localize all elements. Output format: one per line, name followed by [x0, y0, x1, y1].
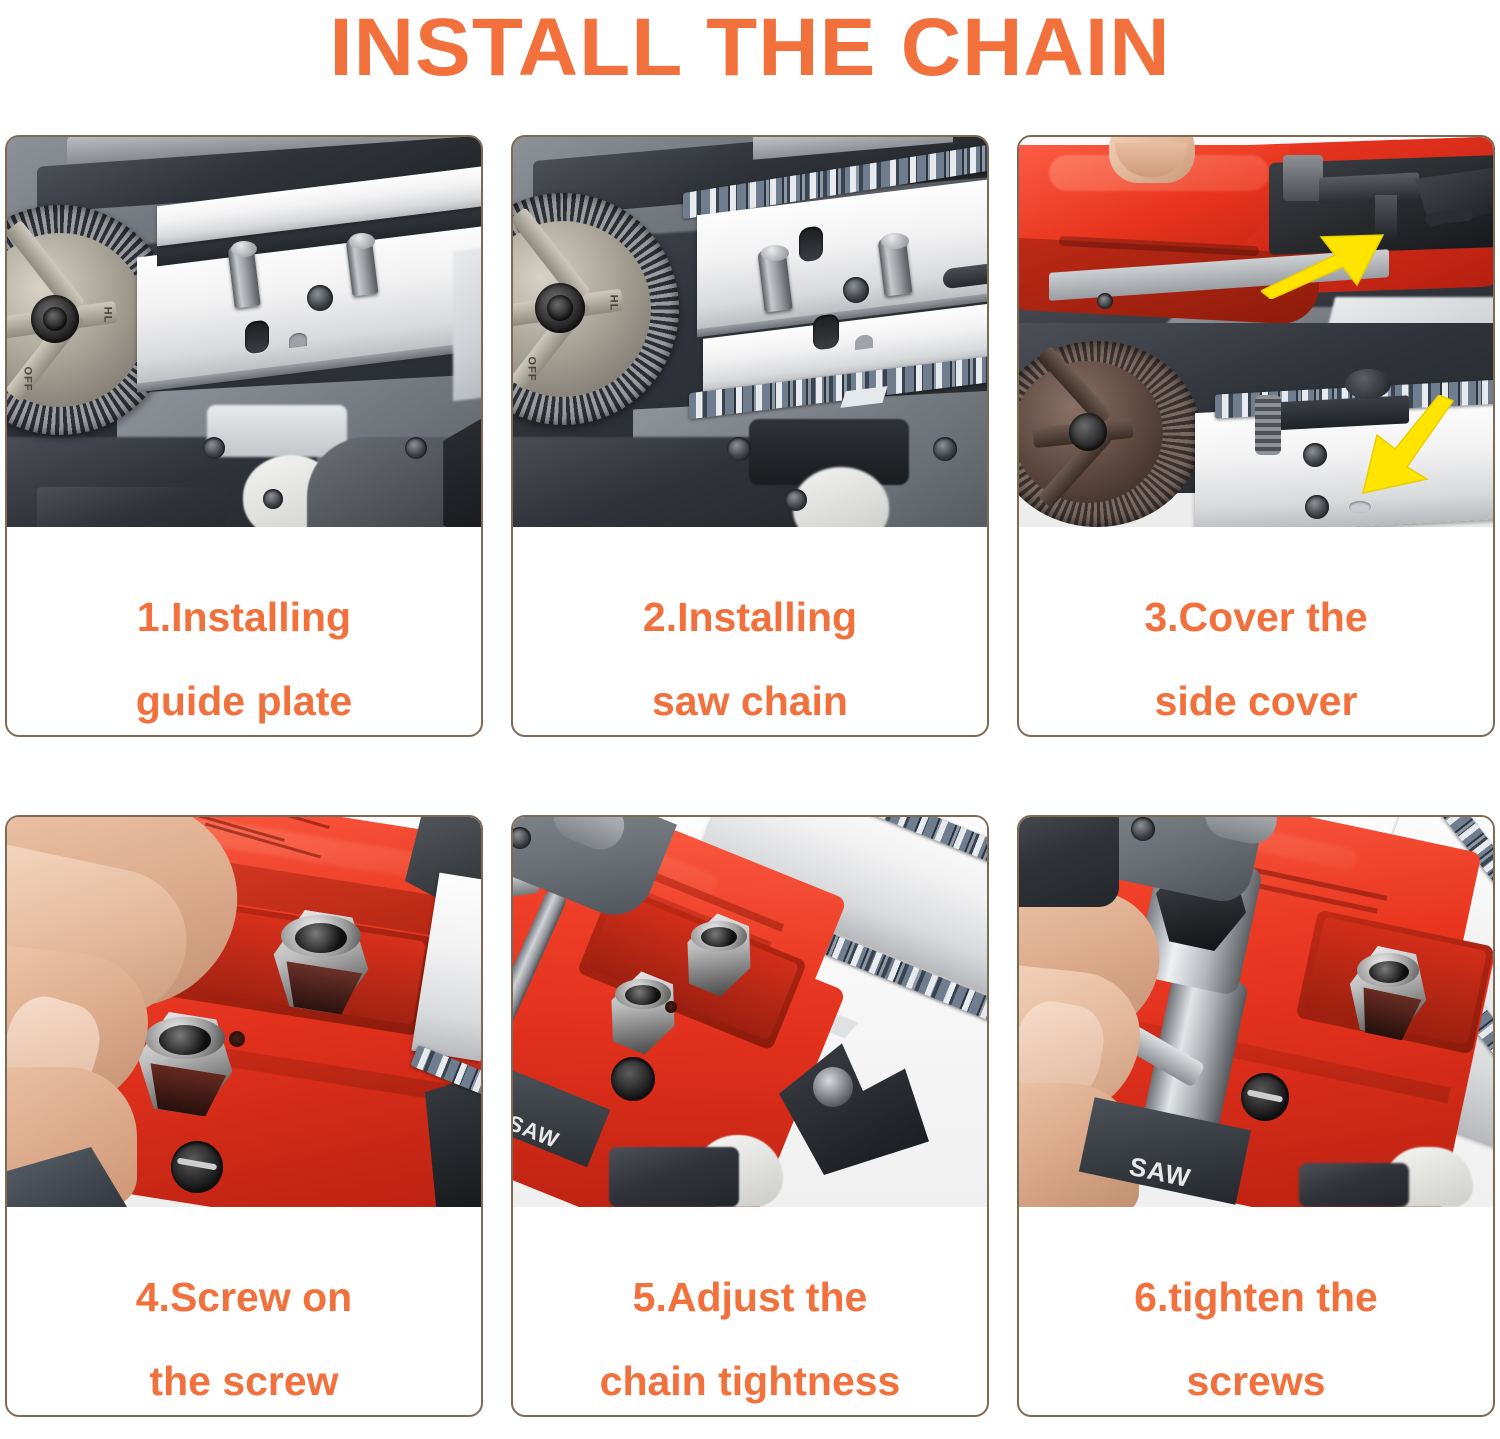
step-photo-6: SAW [1019, 817, 1493, 1207]
step-card-4: 4.Screw on the screw [5, 815, 483, 1417]
step-card-1: HL OFF 1.Inst [5, 135, 483, 737]
step-caption-4: 4.Screw on the screw [7, 1215, 481, 1415]
arrow-icon-lower [1345, 395, 1455, 497]
caption-line-2: side cover [1155, 659, 1358, 737]
arrow-icon-upper [1261, 229, 1389, 299]
page-title: INSTALL THE CHAIN [0, 0, 1500, 100]
step-photo-3 [1019, 137, 1493, 527]
step-photo-4 [7, 817, 481, 1207]
caption-line-2: chain tightness [600, 1339, 901, 1417]
step-caption-3: 3.Cover the side cover [1019, 535, 1493, 735]
dial-label-off: OFF [22, 367, 34, 392]
step-caption-2: 2.Installing saw chain [513, 535, 987, 735]
step-card-6: SAW 6.tighten the screws [1017, 815, 1495, 1417]
step-photo-2: HL OFF [513, 137, 987, 527]
instruction-infographic: INSTALL THE CHAIN [0, 0, 1500, 1439]
step-caption-6: 6.tighten the screws [1019, 1215, 1493, 1415]
caption-line-2: the screw [149, 1339, 338, 1417]
step-caption-5: 5.Adjust the chain tightness [513, 1215, 987, 1415]
caption-line-1: 3.Cover the [1144, 575, 1367, 659]
caption-line-1: 2.Installing [643, 575, 857, 659]
caption-line-1: 4.Screw on [136, 1255, 352, 1339]
dial-label-off: OFF [526, 357, 538, 382]
caption-line-2: screws [1186, 1339, 1325, 1417]
steps-grid: HL OFF 1.Inst [5, 135, 1495, 1417]
caption-line-1: 6.tighten the [1134, 1255, 1378, 1339]
step-photo-5: SAW [513, 817, 987, 1207]
step-photo-1: HL OFF [7, 137, 481, 527]
caption-line-1: 5.Adjust the [633, 1255, 868, 1339]
step-card-5: SAW 5.Adjust the chain tightness [511, 815, 989, 1417]
caption-line-2: saw chain [652, 659, 848, 737]
caption-line-2: guide plate [136, 659, 352, 737]
step-caption-1: 1.Installing guide plate [7, 535, 481, 735]
dial-label-hl: HL [607, 295, 619, 312]
caption-line-1: 1.Installing [137, 575, 351, 659]
dial-label-hl: HL [101, 307, 113, 324]
step-card-3: 3.Cover the side cover [1017, 135, 1495, 737]
step-card-2: HL OFF [511, 135, 989, 737]
